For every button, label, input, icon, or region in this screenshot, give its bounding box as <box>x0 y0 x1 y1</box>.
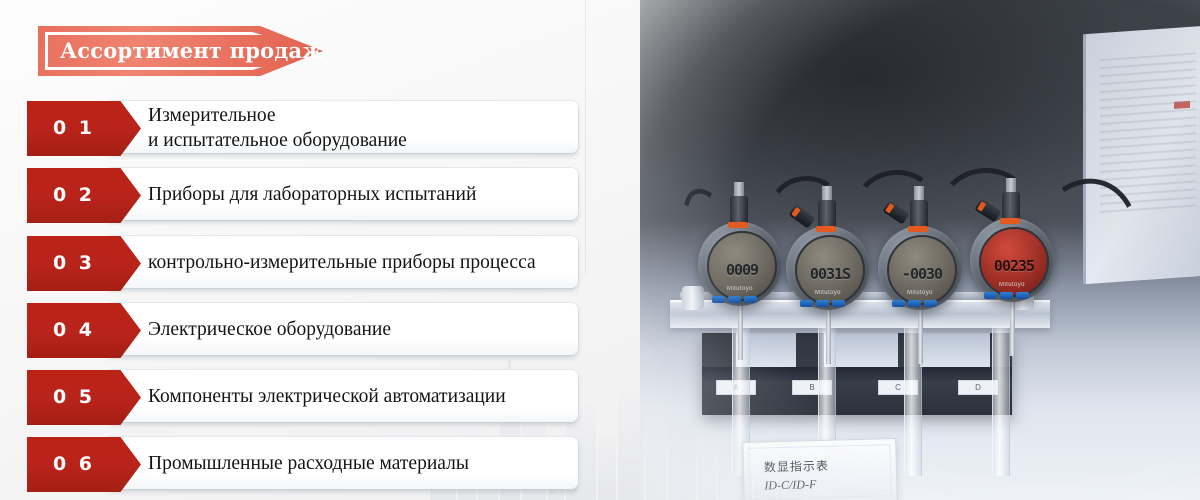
list-item-number: 0 3 <box>27 236 121 291</box>
list-item-label-line: контрольно-измерительные приборы процесс… <box>148 251 568 276</box>
product-name-cn: 数显指示表 <box>764 455 890 475</box>
gauge-cap <box>1002 192 1020 220</box>
list-item[interactable]: 0 4 Электрическое оборудование <box>27 303 578 358</box>
gauge-orange-band <box>908 226 928 232</box>
gauge-spindle <box>1010 298 1015 356</box>
list-item-number: 0 6 <box>27 437 121 492</box>
list-item[interactable]: 0 3 контрольно-измерительные приборы про… <box>27 236 578 291</box>
product-name-card: 数显指示表 ID-C/ID-F <box>742 438 898 500</box>
list-item-label: Электрическое оборудование <box>148 303 568 358</box>
list-item-label: Приборы для лабораторных испытаний <box>148 168 568 223</box>
gauge-lcd-reading: 0031S <box>802 265 858 283</box>
list-item-label: Компоненты электрической автоматизации <box>148 370 568 425</box>
gauge-brand-label: Mitutoyo <box>970 282 1054 288</box>
page-title: Ассортимент продаж <box>60 26 324 76</box>
gauge-button-row[interactable] <box>892 300 937 307</box>
gauge-lcd-reading: -0030 <box>894 265 950 283</box>
digital-indicator-gauge: 0031S Mitutoyo <box>786 226 870 310</box>
list-item[interactable]: 0 2 Приборы для лабораторных испытаний <box>27 168 578 223</box>
list-item[interactable]: 0 6 Промышленные расходные материалы <box>27 437 578 492</box>
digital-indicator-gauge: 00235 Mitutoyo <box>970 218 1054 302</box>
gauge-button-row[interactable] <box>984 292 1029 299</box>
slide-canvas: A B C D 0009 <box>0 0 1200 500</box>
list-item-label-line: и испытательное оборудование <box>148 129 568 154</box>
list-item-number: 0 2 <box>27 168 121 223</box>
gauge-orange-band <box>1000 218 1020 224</box>
gauge-orange-band <box>816 226 836 232</box>
acrylic-leg <box>992 326 1010 476</box>
product-model: ID-C/ID-F <box>764 475 890 493</box>
gauge-spindle <box>826 306 831 364</box>
gauge-orange-band <box>728 222 748 228</box>
gauge-lcd-reading: 00235 <box>986 257 1042 275</box>
digital-indicator-gauge: -0030 Mitutoyo <box>878 226 962 310</box>
background-seam-line <box>585 0 586 275</box>
gauge-spindle <box>738 302 743 360</box>
gauge-cap <box>910 200 928 228</box>
list-item-label: контрольно-измерительные приборы процесс… <box>148 236 568 291</box>
monitor-red-marker <box>1174 101 1190 109</box>
list-item-label-line: Измерительное <box>148 104 568 129</box>
gauge-cap <box>730 196 748 224</box>
digital-indicator-gauge: 0009 Mitutoyo <box>698 222 782 306</box>
list-item-number: 0 4 <box>27 303 121 358</box>
list-item-number: 0 1 <box>27 101 121 156</box>
gauge-button-row[interactable] <box>712 296 757 303</box>
list-item-label-line: Электрическое оборудование <box>148 318 568 343</box>
list-item-label-line: Промышленные расходные материалы <box>148 452 568 477</box>
list-item-label-line: Приборы для лабораторных испытаний <box>148 183 568 208</box>
list-item-number: 0 5 <box>27 370 121 425</box>
gauge-brand-label: Mitutoyo <box>878 290 962 296</box>
gauge-lcd-reading: 0009 <box>714 261 770 279</box>
gauge-button-row[interactable] <box>800 300 845 307</box>
gauge-cap <box>818 200 836 228</box>
list-item-label: Измерительное и испытательное оборудован… <box>148 101 568 156</box>
gauge-brand-label: Mitutoyo <box>786 290 870 296</box>
list-item-label: Промышленные расходные материалы <box>148 437 568 492</box>
gauge-brand-label: Mitutoyo <box>698 286 782 292</box>
list-item[interactable]: 0 1 Измерительное и испытательное оборуд… <box>27 101 578 156</box>
gauge-spindle <box>918 306 923 364</box>
product-photo: A B C D 0009 <box>640 0 1200 500</box>
list-item-label-line: Компоненты электрической автоматизации <box>148 385 568 410</box>
list-item[interactable]: 0 5 Компоненты электрической автоматизац… <box>27 370 578 425</box>
